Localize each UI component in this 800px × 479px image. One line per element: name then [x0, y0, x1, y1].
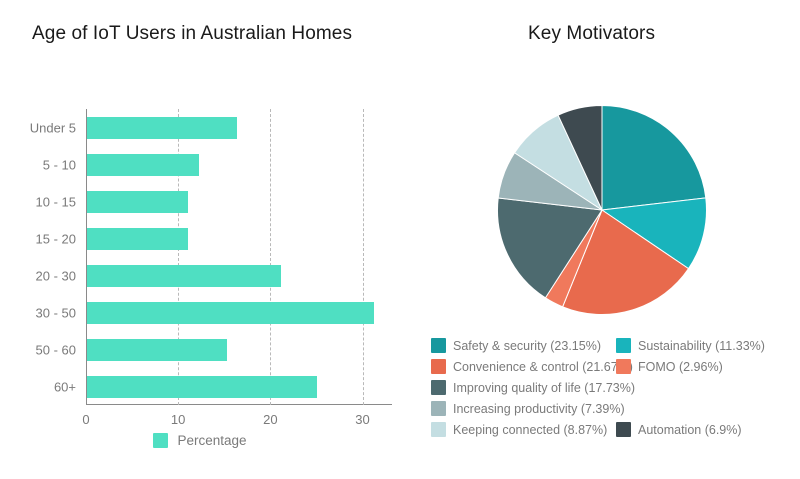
legend-label: Sustainability (11.33%)	[638, 339, 765, 353]
bar[interactable]	[87, 265, 281, 287]
bar[interactable]	[87, 302, 374, 324]
y-tick-label: 60+	[54, 379, 76, 394]
legend-label: Improving quality of life (17.73%)	[453, 381, 635, 395]
x-tick-label: 10	[171, 412, 185, 427]
legend-swatch	[431, 401, 446, 416]
y-tick-label: 15 - 20	[36, 231, 76, 246]
x-tick-label: 20	[263, 412, 277, 427]
bar[interactable]	[87, 339, 227, 361]
bar-chart-panel: Age of IoT Users in Australian Homes Und…	[0, 0, 400, 479]
pie-legend-item[interactable]: FOMO (2.96%)	[616, 357, 723, 376]
gridline	[270, 109, 271, 405]
pie-slice[interactable]	[602, 106, 706, 211]
pie-chart-title: Key Motivators	[528, 23, 655, 45]
bar-chart-legend: Percentage	[0, 433, 400, 448]
bar[interactable]	[87, 376, 317, 398]
legend-label: Automation (6.9%)	[638, 423, 742, 437]
x-axis-line	[86, 404, 392, 405]
pie-legend-item[interactable]: Convenience & control (21.67%)	[431, 357, 616, 376]
pie-legend-item[interactable]: Safety & security (23.15%)	[431, 336, 616, 355]
pie-svg	[497, 105, 707, 315]
bar-row[interactable]: Under 5	[87, 117, 237, 139]
legend-swatch	[616, 422, 631, 437]
legend-swatch-percentage	[153, 433, 168, 448]
legend-swatch	[431, 422, 446, 437]
bar-row[interactable]: 15 - 20	[87, 228, 188, 250]
pie-legend-item[interactable]: Improving quality of life (17.73%)	[431, 378, 799, 397]
legend-label-percentage: Percentage	[177, 433, 246, 448]
x-tick-label: 0	[82, 412, 89, 427]
bar-row[interactable]: 10 - 15	[87, 191, 188, 213]
bar-chart-plot-area: Under 55 - 1010 - 1515 - 2020 - 3030 - 5…	[86, 109, 392, 405]
legend-label: Convenience & control (21.67%)	[453, 360, 633, 374]
gridline	[363, 109, 364, 405]
bar[interactable]	[87, 117, 237, 139]
bar-row[interactable]: 60+	[87, 376, 317, 398]
legend-swatch	[431, 380, 446, 395]
legend-swatch	[616, 338, 631, 353]
pie-chart-panel: Key Motivators Safety & security (23.15%…	[400, 0, 800, 479]
bar[interactable]	[87, 191, 188, 213]
pie-legend-item[interactable]: Keeping connected (8.87%)	[431, 420, 616, 439]
x-tick-label: 30	[355, 412, 369, 427]
pie-legend-item[interactable]: Increasing productivity (7.39%)	[431, 399, 799, 418]
legend-label: FOMO (2.96%)	[638, 360, 723, 374]
bar[interactable]	[87, 228, 188, 250]
legend-swatch	[431, 359, 446, 374]
legend-swatch	[431, 338, 446, 353]
legend-label: Increasing productivity (7.39%)	[453, 402, 625, 416]
legend-swatch	[616, 359, 631, 374]
y-tick-label: 20 - 30	[36, 268, 76, 283]
y-tick-label: 30 - 50	[36, 305, 76, 320]
y-tick-label: 5 - 10	[43, 157, 76, 172]
pie-chart-graphic	[497, 105, 707, 315]
bar-row[interactable]: 20 - 30	[87, 265, 281, 287]
pie-legend-item[interactable]: Sustainability (11.33%)	[616, 336, 765, 355]
y-tick-label: Under 5	[30, 120, 76, 135]
pie-chart-legend: Safety & security (23.15%)Sustainability…	[431, 336, 799, 439]
pie-legend-item[interactable]: Automation (6.9%)	[616, 420, 742, 439]
legend-label: Safety & security (23.15%)	[453, 339, 601, 353]
bar-chart-title: Age of IoT Users in Australian Homes	[32, 23, 352, 45]
legend-label: Keeping connected (8.87%)	[453, 423, 607, 437]
bar[interactable]	[87, 154, 199, 176]
y-tick-label: 50 - 60	[36, 342, 76, 357]
bar-row[interactable]: 5 - 10	[87, 154, 199, 176]
dual-chart-figure: Age of IoT Users in Australian Homes Und…	[0, 0, 800, 479]
y-tick-label: 10 - 15	[36, 194, 76, 209]
bar-row[interactable]: 30 - 50	[87, 302, 374, 324]
bar-row[interactable]: 50 - 60	[87, 339, 227, 361]
